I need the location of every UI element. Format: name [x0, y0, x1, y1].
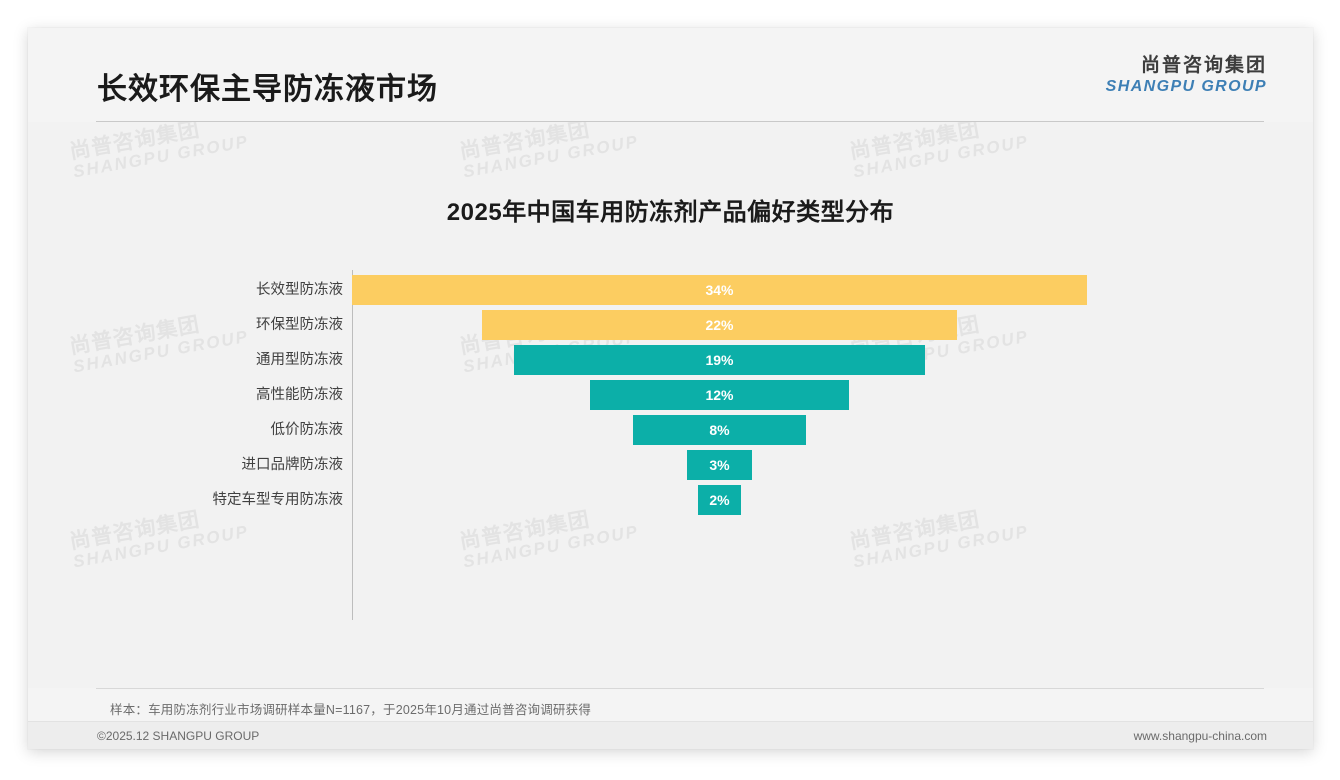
category-label: 环保型防冻液 — [167, 310, 343, 340]
bar-row: 特定车型专用防冻液2% — [167, 485, 1167, 515]
bar-segment[interactable]: 3% — [687, 450, 752, 480]
watermark-chinese-text: 尚普咨询集团 — [458, 122, 637, 164]
watermark-chinese-text: 尚普咨询集团 — [68, 122, 247, 164]
funnel-chart-plot: 长效型防冻液34%环保型防冻液22%通用型防冻液19%高性能防冻液12%低价防冻… — [167, 270, 1167, 620]
watermark-0-0: 尚普咨询集团SHANGPU GROUP — [68, 122, 250, 181]
bar-row: 环保型防冻液22% — [167, 310, 1167, 340]
category-label: 高性能防冻液 — [167, 380, 343, 410]
watermark-english-text: SHANGPU GROUP — [852, 133, 1030, 181]
logo-english-text: SHANGPU GROUP — [1106, 79, 1267, 95]
chart-container: 尚普咨询集团SHANGPU GROUP尚普咨询集团SHANGPU GROUP尚普… — [28, 122, 1313, 688]
watermark-0-1: 尚普咨询集团SHANGPU GROUP — [458, 122, 640, 181]
bar-row: 高性能防冻液12% — [167, 380, 1167, 410]
footnote-zone: 样本：车用防冻剂行业市场调研样本量N=1167，于2025年10月通过尚普咨询调… — [28, 688, 1313, 721]
bar-value-label: 12% — [590, 380, 849, 410]
sample-footnote: 样本：车用防冻剂行业市场调研样本量N=1167，于2025年10月通过尚普咨询调… — [110, 699, 591, 718]
bar-row: 进口品牌防冻液3% — [167, 450, 1167, 480]
page-title: 长效环保主导防冻液市场 — [97, 64, 438, 108]
bar-value-label: 19% — [514, 345, 925, 375]
bar-value-label: 2% — [698, 485, 741, 515]
watermark-english-text: SHANGPU GROUP — [72, 133, 250, 181]
bar-segment[interactable]: 12% — [590, 380, 849, 410]
bar-value-label: 34% — [352, 275, 1087, 305]
bar-segment[interactable]: 19% — [514, 345, 925, 375]
category-label: 低价防冻液 — [167, 415, 343, 445]
bar-segment[interactable]: 22% — [482, 310, 958, 340]
bar-segment[interactable]: 2% — [698, 485, 741, 515]
watermark-0-2: 尚普咨询集团SHANGPU GROUP — [848, 122, 1030, 181]
watermark-chinese-text: 尚普咨询集团 — [848, 122, 1027, 164]
brand-logo: 尚普咨询集团 SHANGPU GROUP — [1106, 56, 1267, 95]
logo-chinese-text: 尚普咨询集团 — [1106, 56, 1267, 75]
category-label: 特定车型专用防冻液 — [167, 485, 343, 515]
slide-canvas: 长效环保主导防冻液市场 尚普咨询集团 SHANGPU GROUP 尚普咨询集团S… — [28, 28, 1313, 749]
bar-segment[interactable]: 34% — [352, 275, 1087, 305]
category-label: 通用型防冻液 — [167, 345, 343, 375]
bar-value-label: 3% — [687, 450, 752, 480]
footnote-divider — [96, 688, 1264, 689]
watermark-english-text: SHANGPU GROUP — [462, 133, 640, 181]
slide-header: 长效环保主导防冻液市场 尚普咨询集团 SHANGPU GROUP — [28, 28, 1313, 122]
bar-value-label: 8% — [633, 415, 806, 445]
slide-footer: ©2025.12 SHANGPU GROUP www.shangpu-china… — [28, 721, 1313, 749]
bar-row: 通用型防冻液19% — [167, 345, 1167, 375]
website-link[interactable]: www.shangpu-china.com — [1134, 729, 1267, 743]
category-label: 进口品牌防冻液 — [167, 450, 343, 480]
category-label: 长效型防冻液 — [167, 275, 343, 305]
bar-row: 长效型防冻液34% — [167, 275, 1167, 305]
bar-segment[interactable]: 8% — [633, 415, 806, 445]
bar-row: 低价防冻液8% — [167, 415, 1167, 445]
bar-value-label: 22% — [482, 310, 958, 340]
chart-title: 2025年中国车用防冻剂产品偏好类型分布 — [28, 192, 1313, 227]
copyright-text: ©2025.12 SHANGPU GROUP — [97, 729, 259, 743]
